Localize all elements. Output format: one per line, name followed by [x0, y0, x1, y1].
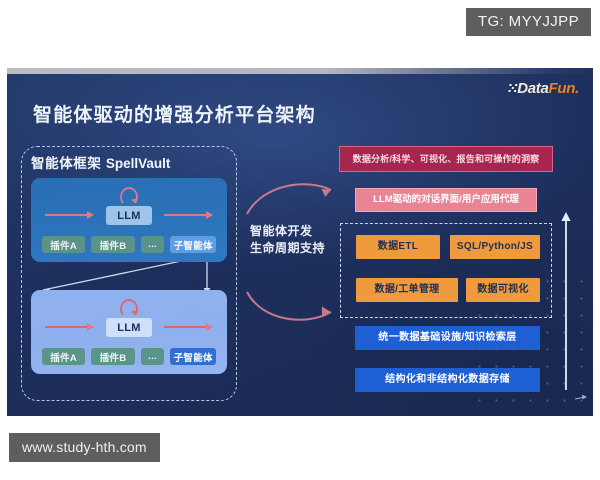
self-loop-arrow-icon [115, 183, 143, 205]
agent-framework-title-cn: 智能体框架 [31, 156, 102, 171]
agent-card-primary: LLM 插件A 插件B ... 子智能体 [31, 178, 227, 262]
presentation-slide: ⁙DataFun. 智能体驱动的增强分析平台架构 智能体框架 SpellVaul… [7, 68, 593, 416]
agent-framework-title: 智能体框架 SpellVault [31, 152, 170, 172]
logo-dots-icon: ⁙ [507, 81, 516, 96]
lifecycle-arrow-top [245, 176, 341, 218]
chat-agent-banner: LLM驱动的对话界面/用户应用代理 [355, 188, 537, 212]
capability-data-visualization[interactable]: 数据可视化 [466, 278, 540, 302]
page-title: 智能体驱动的增强分析平台架构 [33, 100, 316, 127]
output-flow-arrow [164, 214, 212, 216]
small-right-arrow-icon [575, 393, 589, 403]
plugin-more[interactable]: ... [141, 348, 165, 365]
stack-upward-arrow-icon [560, 208, 572, 393]
plugin-b[interactable]: 插件B [91, 236, 134, 253]
capability-data-ticket-management[interactable]: 数据/工单管理 [356, 278, 458, 302]
logo-text-data: Data [517, 80, 548, 97]
plugin-a[interactable]: 插件A [42, 348, 85, 365]
plugin-row: 插件A 插件B ... 子智能体 [42, 236, 216, 253]
self-loop-arrow-icon [115, 295, 143, 317]
plugin-b[interactable]: 插件B [91, 348, 134, 365]
sub-agent[interactable]: 子智能体 [170, 348, 216, 365]
capability-sql-python-js[interactable]: SQL/Python/JS [450, 235, 540, 259]
input-flow-arrow [45, 214, 93, 216]
foundation-infrastructure-layer[interactable]: 统一数据基础设施/知识检索层 [355, 326, 540, 350]
insight-banner: 数据分析/科学、可视化、报告和可操作的洞察 [339, 146, 553, 172]
plugin-a[interactable]: 插件A [42, 236, 85, 253]
foundation-data-storage[interactable]: 结构化和非结构化数据存储 [355, 368, 540, 392]
agent-framework-title-en: SpellVault [106, 156, 171, 171]
capability-data-etl[interactable]: 数据ETL [356, 235, 440, 259]
lifecycle-label-line1: 智能体开发 [250, 223, 325, 240]
lifecycle-label-line2: 生命周期支持 [250, 240, 325, 257]
lifecycle-arrow-bottom [245, 286, 341, 328]
lifecycle-support-label: 智能体开发 生命周期支持 [250, 223, 325, 257]
logo-period: . [575, 80, 579, 97]
plugin-more[interactable]: ... [141, 236, 165, 253]
datafun-logo: ⁙DataFun. [507, 80, 579, 97]
llm-node: LLM [106, 318, 152, 337]
llm-node: LLM [106, 206, 152, 225]
site-watermark-badge: www.study-hth.com [9, 433, 160, 462]
output-flow-arrow [164, 326, 212, 328]
agent-card-secondary: LLM 插件A 插件B ... 子智能体 [31, 290, 227, 374]
input-flow-arrow [45, 326, 93, 328]
logo-text-fun: Fun [549, 80, 576, 97]
sub-agent[interactable]: 子智能体 [170, 236, 216, 253]
slide-top-bar [7, 68, 593, 74]
plugin-row: 插件A 插件B ... 子智能体 [42, 348, 216, 365]
telegram-watermark-badge: TG: MYYJJPP [466, 8, 591, 36]
